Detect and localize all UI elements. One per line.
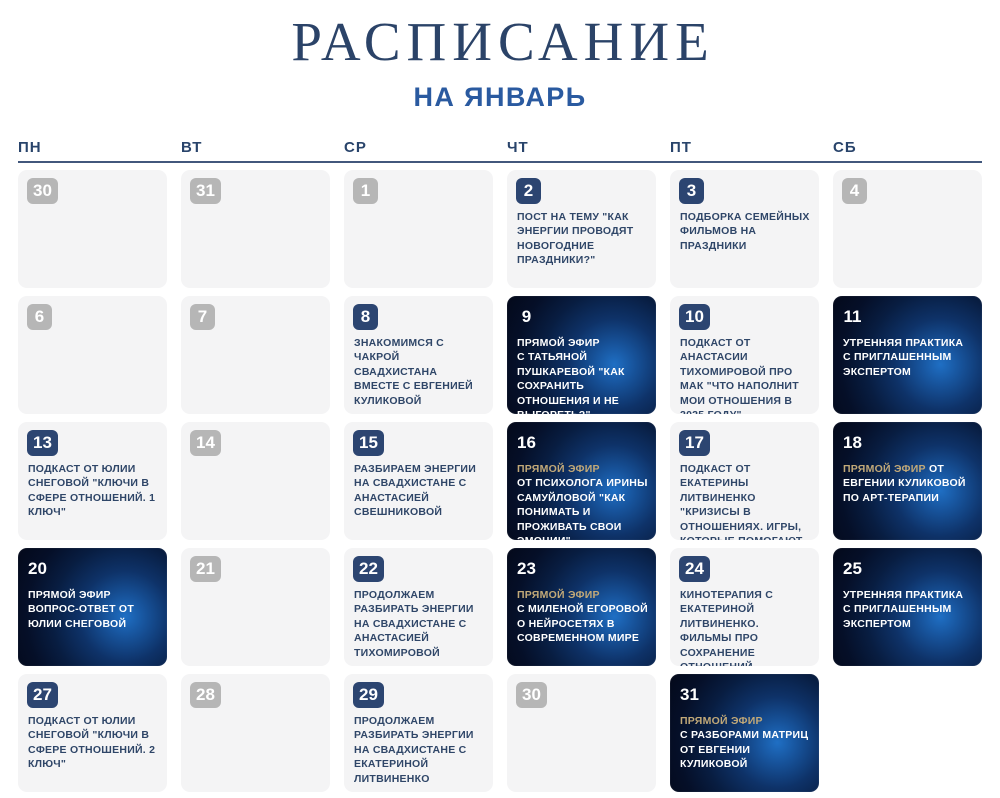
day-number-badge: 2 (516, 178, 541, 204)
day-number-badge: 22 (353, 556, 384, 582)
day-number-badge: 13 (27, 430, 58, 456)
event-description: ПРЯМОЙ ЭФИРОТ ПСИХОЛОГА ИРИНЫ САМУЙЛОВОЙ… (517, 462, 648, 540)
event-body-text: ПОДКАСТ ОТ ЕКАТЕРИНЫ ЛИТВИНЕНКО "КРИЗИСЫ… (680, 463, 803, 540)
calendar-day-cell[interactable]: 11УТРЕННЯЯ ПРАКТИКА С ПРИГЛАШЕННЫМ ЭКСПЕ… (833, 296, 982, 414)
calendar-day-cell[interactable]: 31 (181, 170, 330, 288)
event-description: УТРЕННЯЯ ПРАКТИКА С ПРИГЛАШЕННЫМ ЭКСПЕРТ… (843, 588, 974, 631)
weekday-label-пт: ПТ (670, 139, 819, 156)
event-description: РАЗБИРАЕМ ЭНЕРГИИ НА СВАДХИСТАНЕ С АНАСТ… (354, 462, 485, 520)
calendar-day-cell[interactable]: 25УТРЕННЯЯ ПРАКТИКА С ПРИГЛАШЕННЫМ ЭКСПЕ… (833, 548, 982, 666)
weekday-label-пн: ПН (18, 139, 167, 156)
weekday-label-сб: СБ (833, 139, 982, 156)
calendar-day-cell[interactable]: 22ПРОДОЛЖАЕМ РАЗБИРАТЬ ЭНЕРГИИ НА СВАДХИ… (344, 548, 493, 666)
page-title: РАСПИСАНИЕ (0, 12, 1000, 72)
day-number-badge: 7 (190, 304, 215, 330)
weekday-header-row: ПНВТСРЧТПТСБ (18, 139, 982, 163)
calendar-day-cell[interactable]: 3ПОДБОРКА СЕМЕЙНЫХ ФИЛЬМОВ НА ПРАЗДНИКИ (670, 170, 819, 288)
calendar-day-cell[interactable]: 17ПОДКАСТ ОТ ЕКАТЕРИНЫ ЛИТВИНЕНКО "КРИЗИ… (670, 422, 819, 540)
day-number-badge: 23 (517, 556, 542, 582)
day-number-badge: 31 (680, 682, 705, 708)
calendar-day-cell[interactable]: 20ПРЯМОЙ ЭФИРВОПРОС-ОТВЕТ ОТ ЮЛИИ СНЕГОВ… (18, 548, 167, 666)
page-subtitle: НА ЯНВАРЬ (0, 81, 1000, 113)
day-number-badge: 4 (842, 178, 867, 204)
day-number-badge: 30 (516, 682, 547, 708)
event-description: ПРЯМОЙ ЭФИР ОТ ЕВГЕНИИ КУЛИКОВОЙ ПО АРТ-… (843, 462, 974, 505)
day-number-badge: 10 (679, 304, 710, 330)
weekday-label-ср: СР (344, 139, 493, 156)
event-body-text: РАЗБИРАЕМ ЭНЕРГИИ НА СВАДХИСТАНЕ С АНАСТ… (354, 463, 476, 518)
calendar-day-cell[interactable]: 30 (18, 170, 167, 288)
day-number-badge: 1 (353, 178, 378, 204)
calendar-day-cell[interactable]: 24КИНОТЕРАПИЯ С ЕКАТЕРИНОЙ ЛИТВИНЕНКО. Ф… (670, 548, 819, 666)
event-description: ПОДБОРКА СЕМЕЙНЫХ ФИЛЬМОВ НА ПРАЗДНИКИ (680, 210, 811, 253)
event-lead-label: ПРЯМОЙ ЭФИР (680, 714, 811, 728)
calendar-day-cell[interactable]: 18ПРЯМОЙ ЭФИР ОТ ЕВГЕНИИ КУЛИКОВОЙ ПО АР… (833, 422, 982, 540)
event-description: ПОДКАСТ ОТ ЮЛИИ СНЕГОВОЙ "КЛЮЧИ В СФЕРЕ … (28, 714, 159, 772)
calendar-day-cell[interactable]: 13ПОДКАСТ ОТ ЮЛИИ СНЕГОВОЙ "КЛЮЧИ В СФЕР… (18, 422, 167, 540)
event-lead-label: ПРЯМОЙ ЭФИР (517, 588, 648, 602)
calendar-day-cell[interactable]: 29ПРОДОЛЖАЕМ РАЗБИРАТЬ ЭНЕРГИИ НА СВАДХИ… (344, 674, 493, 792)
calendar-day-cell[interactable]: 16ПРЯМОЙ ЭФИРОТ ПСИХОЛОГА ИРИНЫ САМУЙЛОВ… (507, 422, 656, 540)
calendar-day-cell[interactable]: 21 (181, 548, 330, 666)
calendar-day-cell[interactable]: 7 (181, 296, 330, 414)
day-number-badge: 20 (28, 556, 53, 582)
day-number-badge: 9 (517, 304, 542, 330)
event-body-text: УТРЕННЯЯ ПРАКТИКА С ПРИГЛАШЕННЫМ ЭКСПЕРТ… (843, 337, 963, 378)
calendar-day-cell[interactable]: 27ПОДКАСТ ОТ ЮЛИИ СНЕГОВОЙ "КЛЮЧИ В СФЕР… (18, 674, 167, 792)
day-number-badge: 25 (843, 556, 868, 582)
event-description: ПРОДОЛЖАЕМ РАЗБИРАТЬ ЭНЕРГИИ НА СВАДХИСТ… (354, 714, 485, 786)
calendar-day-cell[interactable]: 1 (344, 170, 493, 288)
event-body-text: ПОДБОРКА СЕМЕЙНЫХ ФИЛЬМОВ НА ПРАЗДНИКИ (680, 211, 810, 252)
day-number-badge: 21 (190, 556, 221, 582)
day-number-badge: 31 (190, 178, 221, 204)
day-number-badge: 17 (679, 430, 710, 456)
day-number-badge: 14 (190, 430, 221, 456)
event-description: ПОСТ НА ТЕМУ "КАК ЭНЕРГИИ ПРОВОДЯТ НОВОГ… (517, 210, 648, 268)
event-description: ПРЯМОЙ ЭФИРС РАЗБОРАМИ МАТРИЦ ОТ ЕВГЕНИИ… (680, 714, 811, 772)
calendar-day-cell[interactable]: 10ПОДКАСТ ОТ АНАСТАСИИ ТИХОМИРОВОЙ ПРО М… (670, 296, 819, 414)
calendar-day-cell[interactable]: 14 (181, 422, 330, 540)
day-number-badge: 18 (843, 430, 868, 456)
day-number-badge: 3 (679, 178, 704, 204)
event-description: ПРОДОЛЖАЕМ РАЗБИРАТЬ ЭНЕРГИИ НА СВАДХИСТ… (354, 588, 485, 660)
event-lead-label: ПРЯМОЙ ЭФИР (843, 463, 926, 475)
event-body-text: УТРЕННЯЯ ПРАКТИКА С ПРИГЛАШЕННЫМ ЭКСПЕРТ… (843, 589, 963, 630)
event-description: ПОДКАСТ ОТ ЕКАТЕРИНЫ ЛИТВИНЕНКО "КРИЗИСЫ… (680, 462, 811, 540)
event-description: ПОДКАСТ ОТ ЮЛИИ СНЕГОВОЙ "КЛЮЧИ В СФЕРЕ … (28, 462, 159, 520)
calendar-day-cell[interactable]: 9ПРЯМОЙ ЭФИРС ТАТЬЯНОЙ ПУШКАРЕВОЙ "КАК С… (507, 296, 656, 414)
event-body-text: ПРОДОЛЖАЕМ РАЗБИРАТЬ ЭНЕРГИИ НА СВАДХИСТ… (354, 589, 474, 659)
event-description: ПРЯМОЙ ЭФИРС МИЛЕНОЙ ЕГОРОВОЙ О НЕЙРОСЕТ… (517, 588, 648, 646)
calendar-day-cell[interactable]: 6 (18, 296, 167, 414)
day-number-badge: 16 (517, 430, 542, 456)
event-body-text: С РАЗБОРАМИ МАТРИЦ ОТ ЕВГЕНИИ КУЛИКОВОЙ (680, 729, 808, 770)
event-body-text: ЗНАКОМИМСЯ С ЧАКРОЙ СВАДХИСТАНА ВМЕСТЕ С… (354, 337, 473, 407)
day-number-badge: 15 (353, 430, 384, 456)
calendar-day-cell[interactable]: 23ПРЯМОЙ ЭФИРС МИЛЕНОЙ ЕГОРОВОЙ О НЕЙРОС… (507, 548, 656, 666)
event-body-text: ОТ ПСИХОЛОГА ИРИНЫ САМУЙЛОВОЙ "КАК ПОНИМ… (517, 477, 648, 540)
day-number-badge: 27 (27, 682, 58, 708)
day-number-badge: 6 (27, 304, 52, 330)
event-lead-label: ПРЯМОЙ ЭФИР (28, 588, 159, 602)
event-description: ПРЯМОЙ ЭФИРВОПРОС-ОТВЕТ ОТ ЮЛИИ СНЕГОВОЙ (28, 588, 159, 631)
event-description: ПРЯМОЙ ЭФИРС ТАТЬЯНОЙ ПУШКАРЕВОЙ "КАК СО… (517, 336, 648, 414)
calendar-day-cell[interactable]: 31ПРЯМОЙ ЭФИРС РАЗБОРАМИ МАТРИЦ ОТ ЕВГЕН… (670, 674, 819, 792)
weekday-label-вт: ВТ (181, 139, 330, 156)
calendar-cell-empty (833, 674, 982, 792)
calendar-day-cell[interactable]: 30 (507, 674, 656, 792)
event-lead-label: ПРЯМОЙ ЭФИР (517, 462, 648, 476)
event-body-text: С МИЛЕНОЙ ЕГОРОВОЙ О НЕЙРОСЕТЯХ В СОВРЕМ… (517, 603, 648, 644)
day-number-badge: 28 (190, 682, 221, 708)
schedule-page: РАСПИСАНИЕ НА ЯНВАРЬ ПНВТСРЧТПТСБ 303112… (0, 0, 1000, 798)
event-body-text: ПОДКАСТ ОТ ЮЛИИ СНЕГОВОЙ "КЛЮЧИ В СФЕРЕ … (28, 715, 155, 770)
event-body-text: ВОПРОС-ОТВЕТ ОТ ЮЛИИ СНЕГОВОЙ (28, 603, 134, 629)
event-body-text: ПРОДОЛЖАЕМ РАЗБИРАТЬ ЭНЕРГИИ НА СВАДХИСТ… (354, 715, 474, 785)
calendar-day-cell[interactable]: 2ПОСТ НА ТЕМУ "КАК ЭНЕРГИИ ПРОВОДЯТ НОВО… (507, 170, 656, 288)
event-body-text: ПОДКАСТ ОТ ЮЛИИ СНЕГОВОЙ "КЛЮЧИ В СФЕРЕ … (28, 463, 155, 518)
event-description: ЗНАКОМИМСЯ С ЧАКРОЙ СВАДХИСТАНА ВМЕСТЕ С… (354, 336, 485, 408)
event-description: КИНОТЕРАПИЯ С ЕКАТЕРИНОЙ ЛИТВИНЕНКО. ФИЛ… (680, 588, 811, 666)
day-number-badge: 30 (27, 178, 58, 204)
weekday-label-чт: ЧТ (507, 139, 656, 156)
calendar-day-cell[interactable]: 4 (833, 170, 982, 288)
day-number-badge: 29 (353, 682, 384, 708)
event-body-text: ПОСТ НА ТЕМУ "КАК ЭНЕРГИИ ПРОВОДЯТ НОВОГ… (517, 211, 633, 266)
event-body-text: КИНОТЕРАПИЯ С ЕКАТЕРИНОЙ ЛИТВИНЕНКО. ФИЛ… (680, 589, 773, 666)
calendar-grid: 303112ПОСТ НА ТЕМУ "КАК ЭНЕРГИИ ПРОВОДЯТ… (18, 170, 982, 792)
day-number-badge: 8 (353, 304, 378, 330)
event-description: ПОДКАСТ ОТ АНАСТАСИИ ТИХОМИРОВОЙ ПРО МАК… (680, 336, 811, 414)
calendar-day-cell[interactable]: 28 (181, 674, 330, 792)
event-body-text: С ТАТЬЯНОЙ ПУШКАРЕВОЙ "КАК СОХРАНИТЬ ОТН… (517, 351, 625, 414)
calendar-day-cell[interactable]: 15РАЗБИРАЕМ ЭНЕРГИИ НА СВАДХИСТАНЕ С АНА… (344, 422, 493, 540)
event-body-text: ПОДКАСТ ОТ АНАСТАСИИ ТИХОМИРОВОЙ ПРО МАК… (680, 337, 799, 414)
calendar-day-cell[interactable]: 8ЗНАКОМИМСЯ С ЧАКРОЙ СВАДХИСТАНА ВМЕСТЕ … (344, 296, 493, 414)
day-number-badge: 24 (679, 556, 710, 582)
page-header: РАСПИСАНИЕ НА ЯНВАРЬ (0, 0, 1000, 113)
event-lead-label: ПРЯМОЙ ЭФИР (517, 336, 648, 350)
day-number-badge: 11 (843, 304, 868, 330)
event-description: УТРЕННЯЯ ПРАКТИКА С ПРИГЛАШЕННЫМ ЭКСПЕРТ… (843, 336, 974, 379)
